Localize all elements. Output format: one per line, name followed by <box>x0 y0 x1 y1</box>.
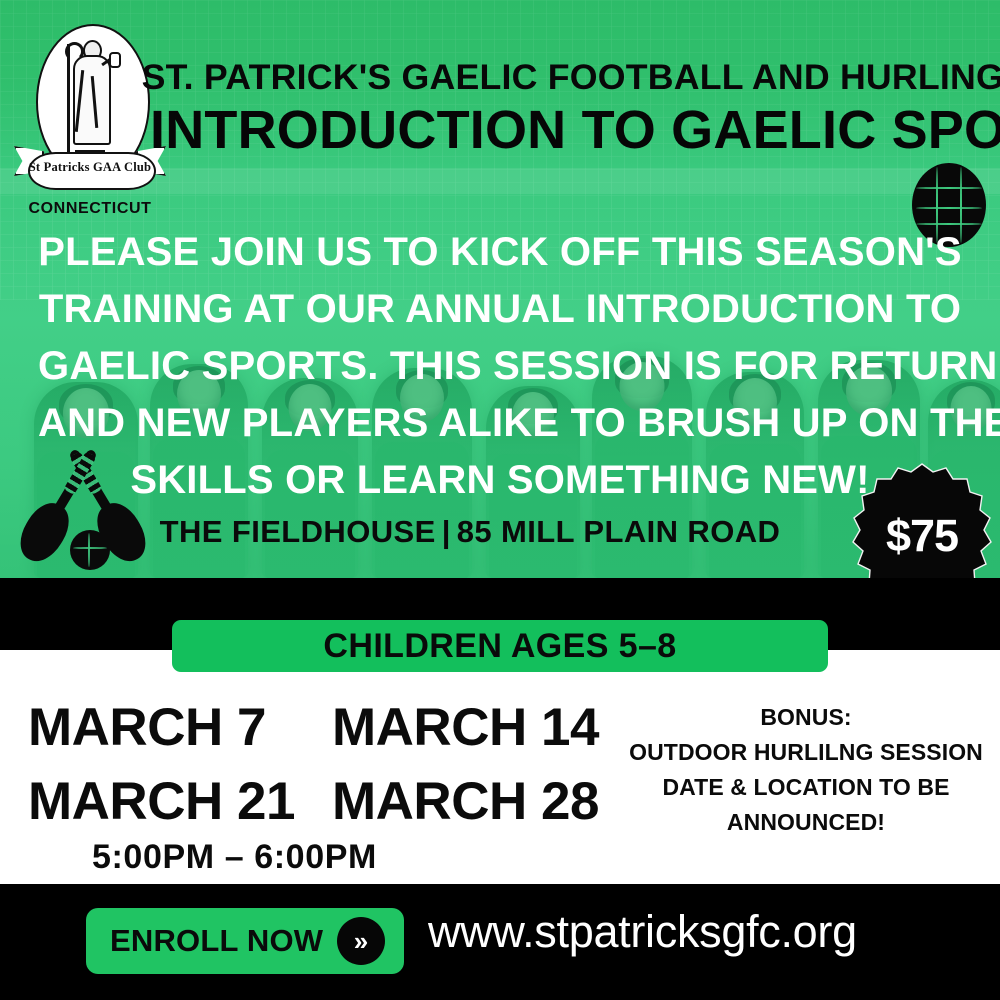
session-date: MARCH 28 <box>332 771 599 832</box>
venue-separator: | <box>436 514 457 549</box>
venue-address: 85 MILL PLAIN ROAD <box>457 514 781 549</box>
bonus-line: OUTDOOR HURLILNG SESSION <box>612 735 1000 770</box>
bonus-line: ANNOUNCED! <box>612 805 1000 840</box>
crossed-hurleys-icon <box>4 448 174 578</box>
double-chevron-right-icon: » <box>337 917 385 965</box>
description-line: AND NEW PLAYERS ALIKE TO BRUSH UP ON THE… <box>38 395 962 452</box>
description-line: SKILLS OR LEARN SOMETHING NEW! <box>38 452 962 509</box>
session-time: 5:00PM – 6:00PM <box>92 838 377 877</box>
sliotar-ball-icon <box>70 530 110 570</box>
club-logo: St Patricks GAA Club CONNECTICUT <box>14 24 166 229</box>
bonus-note: BONUS: OUTDOOR HURLILNG SESSION DATE & L… <box>612 700 1000 840</box>
description-line: PLEASE JOIN US TO KICK OFF THIS SEASON'S <box>38 224 962 281</box>
session-date: MARCH 14 <box>332 697 599 758</box>
page-title: INTRODUCTION TO GAELIC SPORTS <box>150 99 990 161</box>
description-line: GAELIC SPORTS. THIS SESSION IS FOR RETUR… <box>38 338 962 395</box>
bonus-line: DATE & LOCATION TO BE <box>612 770 1000 805</box>
session-date: MARCH 7 <box>28 697 266 758</box>
ribbon-text: St Patricks GAA Club <box>14 160 166 175</box>
venue-line: THE FIELDHOUSE|85 MILL PLAIN ROAD <box>120 514 820 550</box>
session-date: MARCH 21 <box>28 771 295 832</box>
crest-ribbon: St Patricks GAA Club <box>14 142 166 198</box>
enroll-button-label: ENROLL NOW <box>110 923 323 959</box>
description-text: PLEASE JOIN US TO KICK OFF THIS SEASON'S… <box>38 224 962 509</box>
flyer-poster: St Patricks GAA Club CONNECTICUT ST. PAT… <box>0 0 1000 1000</box>
description-line: TRAINING AT OUR ANNUAL INTRODUCTION TO <box>38 281 962 338</box>
logo-state-label: CONNECTICUT <box>14 200 166 218</box>
enroll-now-button[interactable]: ENROLL NOW » <box>86 908 404 974</box>
club-name-line: ST. PATRICK'S GAELIC FOOTBALL AND HURLIN… <box>142 58 999 98</box>
bonus-line: BONUS: <box>612 700 1000 735</box>
venue-name: THE FIELDHOUSE <box>160 514 436 549</box>
website-url[interactable]: www.stpatricksgfc.org <box>428 906 857 958</box>
age-range-banner: CHILDREN AGES 5–8 <box>172 620 828 672</box>
